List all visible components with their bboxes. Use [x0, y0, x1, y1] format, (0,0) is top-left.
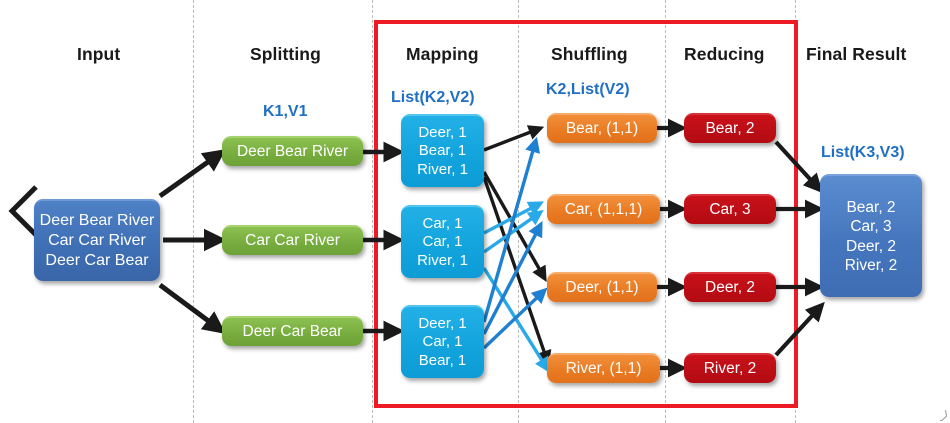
- column-separator-1: [193, 0, 194, 423]
- shuffle-box-bear-label: Bear, (1,1): [566, 119, 638, 138]
- shuffle-box-bear[interactable]: Bear, (1,1): [547, 113, 657, 143]
- key-label-listk2v2: List(K2,V2): [391, 89, 475, 107]
- corner-mark-icon: [938, 410, 947, 421]
- split-box-2[interactable]: Car Car River: [222, 225, 363, 255]
- input-line-1: Deer Bear River: [40, 211, 155, 231]
- final-result-box[interactable]: Bear, 2 Car, 3 Deer, 2 River, 2: [820, 174, 922, 297]
- key-label-k1v1: K1,V1: [263, 103, 307, 121]
- key-label-k2listv2: K2,List(V2): [546, 81, 630, 99]
- final-result-line-2: Car, 3: [850, 217, 891, 236]
- map-box-3[interactable]: Deer, 1 Car, 1 Bear, 1: [401, 305, 484, 378]
- map-box-2[interactable]: Car, 1 Car, 1 River, 1: [401, 205, 484, 278]
- reduce-box-bear[interactable]: Bear, 2: [684, 113, 776, 143]
- split-box-3[interactable]: Deer Car Bear: [222, 316, 363, 346]
- map-box-1-line-1: Deer, 1: [418, 124, 466, 143]
- column-separator-2: [372, 0, 373, 423]
- split-box-2-label: Car Car River: [245, 231, 340, 250]
- input-line-2: Car Car River: [48, 231, 146, 251]
- shuffle-box-deer[interactable]: Deer, (1,1): [547, 272, 657, 302]
- map-box-3-line-1: Deer, 1: [418, 315, 466, 334]
- column-header-input: Input: [77, 44, 120, 65]
- reduce-box-river-label: River, 2: [704, 359, 757, 378]
- shuffle-box-river-label: River, (1,1): [566, 359, 642, 378]
- reduce-box-river[interactable]: River, 2: [684, 353, 776, 383]
- column-header-mapping: Mapping: [406, 44, 479, 65]
- column-header-shuffling: Shuffling: [551, 44, 628, 65]
- final-result-line-1: Bear, 2: [846, 198, 895, 217]
- map-box-3-line-2: Car, 1: [422, 333, 462, 352]
- shuffle-box-river[interactable]: River, (1,1): [547, 353, 660, 383]
- column-header-splitting: Splitting: [250, 44, 321, 65]
- map-box-2-line-1: Car, 1: [422, 215, 462, 234]
- mapreduce-diagram: Input Splitting Mapping Shuffling Reduci…: [0, 0, 950, 423]
- reduce-box-bear-label: Bear, 2: [705, 119, 754, 138]
- map-box-3-line-3: Bear, 1: [419, 352, 467, 371]
- shuffle-box-car-label: Car, (1,1,1): [565, 200, 643, 219]
- input-line-3: Deer Car Bear: [45, 251, 148, 271]
- map-box-1-line-3: River, 1: [417, 161, 468, 180]
- reduce-box-car[interactable]: Car, 3: [684, 194, 776, 224]
- shuffle-box-deer-label: Deer, (1,1): [565, 278, 638, 297]
- reduce-box-deer-label: Deer, 2: [705, 278, 755, 297]
- column-header-reducing: Reducing: [684, 44, 765, 65]
- reduce-box-deer[interactable]: Deer, 2: [684, 272, 776, 302]
- reduce-box-car-label: Car, 3: [709, 200, 750, 219]
- split-box-1-label: Deer Bear River: [237, 142, 348, 161]
- final-result-line-4: River, 2: [845, 256, 898, 275]
- key-label-listk3v3: List(K3,V3): [821, 144, 905, 162]
- arrow-input-to-split-3: [160, 285, 222, 331]
- map-box-2-line-3: River, 1: [417, 252, 468, 271]
- split-box-1[interactable]: Deer Bear River: [222, 136, 363, 166]
- input-box[interactable]: Deer Bear River Car Car River Deer Car B…: [34, 199, 160, 281]
- shuffle-box-car[interactable]: Car, (1,1,1): [547, 194, 660, 224]
- split-box-3-label: Deer Car Bear: [243, 322, 343, 341]
- final-result-line-3: Deer, 2: [846, 237, 896, 256]
- map-box-1[interactable]: Deer, 1 Bear, 1 River, 1: [401, 114, 484, 187]
- map-box-1-line-2: Bear, 1: [419, 142, 467, 161]
- arrow-input-to-split-1: [160, 152, 222, 196]
- column-header-final-result: Final Result: [806, 44, 906, 65]
- map-box-2-line-2: Car, 1: [422, 233, 462, 252]
